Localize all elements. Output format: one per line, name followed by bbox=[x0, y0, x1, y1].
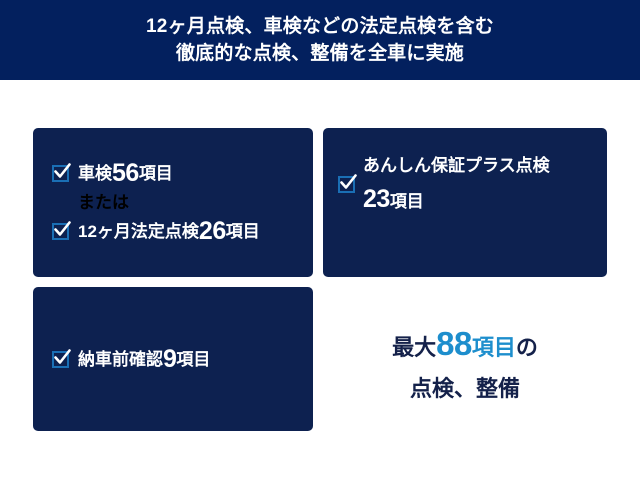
shaken-item-row: 車検 56 項目 bbox=[52, 159, 305, 188]
card-nosha-pre-delivery: 納車前確認 9 項目 bbox=[33, 287, 313, 431]
nosha-unit: 項目 bbox=[176, 350, 210, 370]
checkbox-checked-icon bbox=[338, 176, 355, 193]
shaken-item-number: 56 bbox=[112, 159, 139, 188]
checkbox-checked-icon bbox=[52, 223, 69, 240]
nosha-label: 納車前確認 bbox=[78, 350, 163, 370]
anshin-title: あんしん保証プラス点検 bbox=[363, 156, 550, 176]
summary-total-items: 最大88項目の 点検、整備 bbox=[323, 325, 607, 408]
shaken-item-label: 車検 bbox=[78, 164, 112, 184]
header-banner: 12ヶ月点検、車検などの法定点検を含む 徹底的な点検、整備を全車に実施 bbox=[0, 0, 640, 80]
anshin-text-column: あんしん保証プラス点検 23項目 bbox=[363, 156, 550, 213]
header-line-2: 徹底的な点検、整備を全車に実施 bbox=[176, 40, 464, 67]
summary-prefix: 最大 bbox=[392, 335, 436, 360]
header-line-1: 12ヶ月点検、車検などの法定点検を含む bbox=[146, 13, 494, 40]
card-shaken-content: 車検 56 項目 または 12ヶ月法定点検 26 項目 bbox=[52, 159, 305, 251]
nosha-number: 9 bbox=[163, 345, 176, 374]
checkbox-checked-icon bbox=[52, 165, 69, 182]
summary-unit: 項目 bbox=[472, 335, 516, 360]
checkbox-checked-icon bbox=[52, 351, 69, 368]
card-shaken-inspection: 車検 56 項目 または 12ヶ月法定点検 26 項目 bbox=[33, 128, 313, 277]
card-anshin-content: あんしん保証プラス点検 23項目 bbox=[338, 156, 601, 213]
card-nosha-content: 納車前確認 9 項目 bbox=[52, 345, 305, 374]
houtei-item-label: 12ヶ月法定点検 bbox=[78, 222, 199, 242]
card-anshin-hosho-plus: あんしん保証プラス点検 23項目 bbox=[323, 128, 607, 277]
summary-suffix: の bbox=[516, 335, 538, 360]
anshin-number: 23 bbox=[363, 185, 390, 213]
nosha-item-row: 納車前確認 9 項目 bbox=[52, 345, 305, 374]
summary-line-1: 最大88項目の bbox=[323, 325, 607, 370]
houtei-item-unit: 項目 bbox=[226, 222, 260, 242]
summary-number: 88 bbox=[436, 325, 472, 362]
houtei-item-row: 12ヶ月法定点検 26 項目 bbox=[52, 217, 305, 246]
anshin-count-row: 23項目 bbox=[363, 185, 550, 214]
anshin-unit: 項目 bbox=[390, 192, 424, 211]
inspection-items-infographic: 12ヶ月点検、車検などの法定点検を含む 徹底的な点検、整備を全車に実施 車検 5… bbox=[0, 0, 640, 480]
summary-line-2: 点検、整備 bbox=[323, 370, 607, 408]
shaken-connector-text: または bbox=[78, 193, 305, 213]
shaken-item-unit: 項目 bbox=[139, 164, 173, 184]
houtei-item-number: 26 bbox=[199, 217, 226, 246]
